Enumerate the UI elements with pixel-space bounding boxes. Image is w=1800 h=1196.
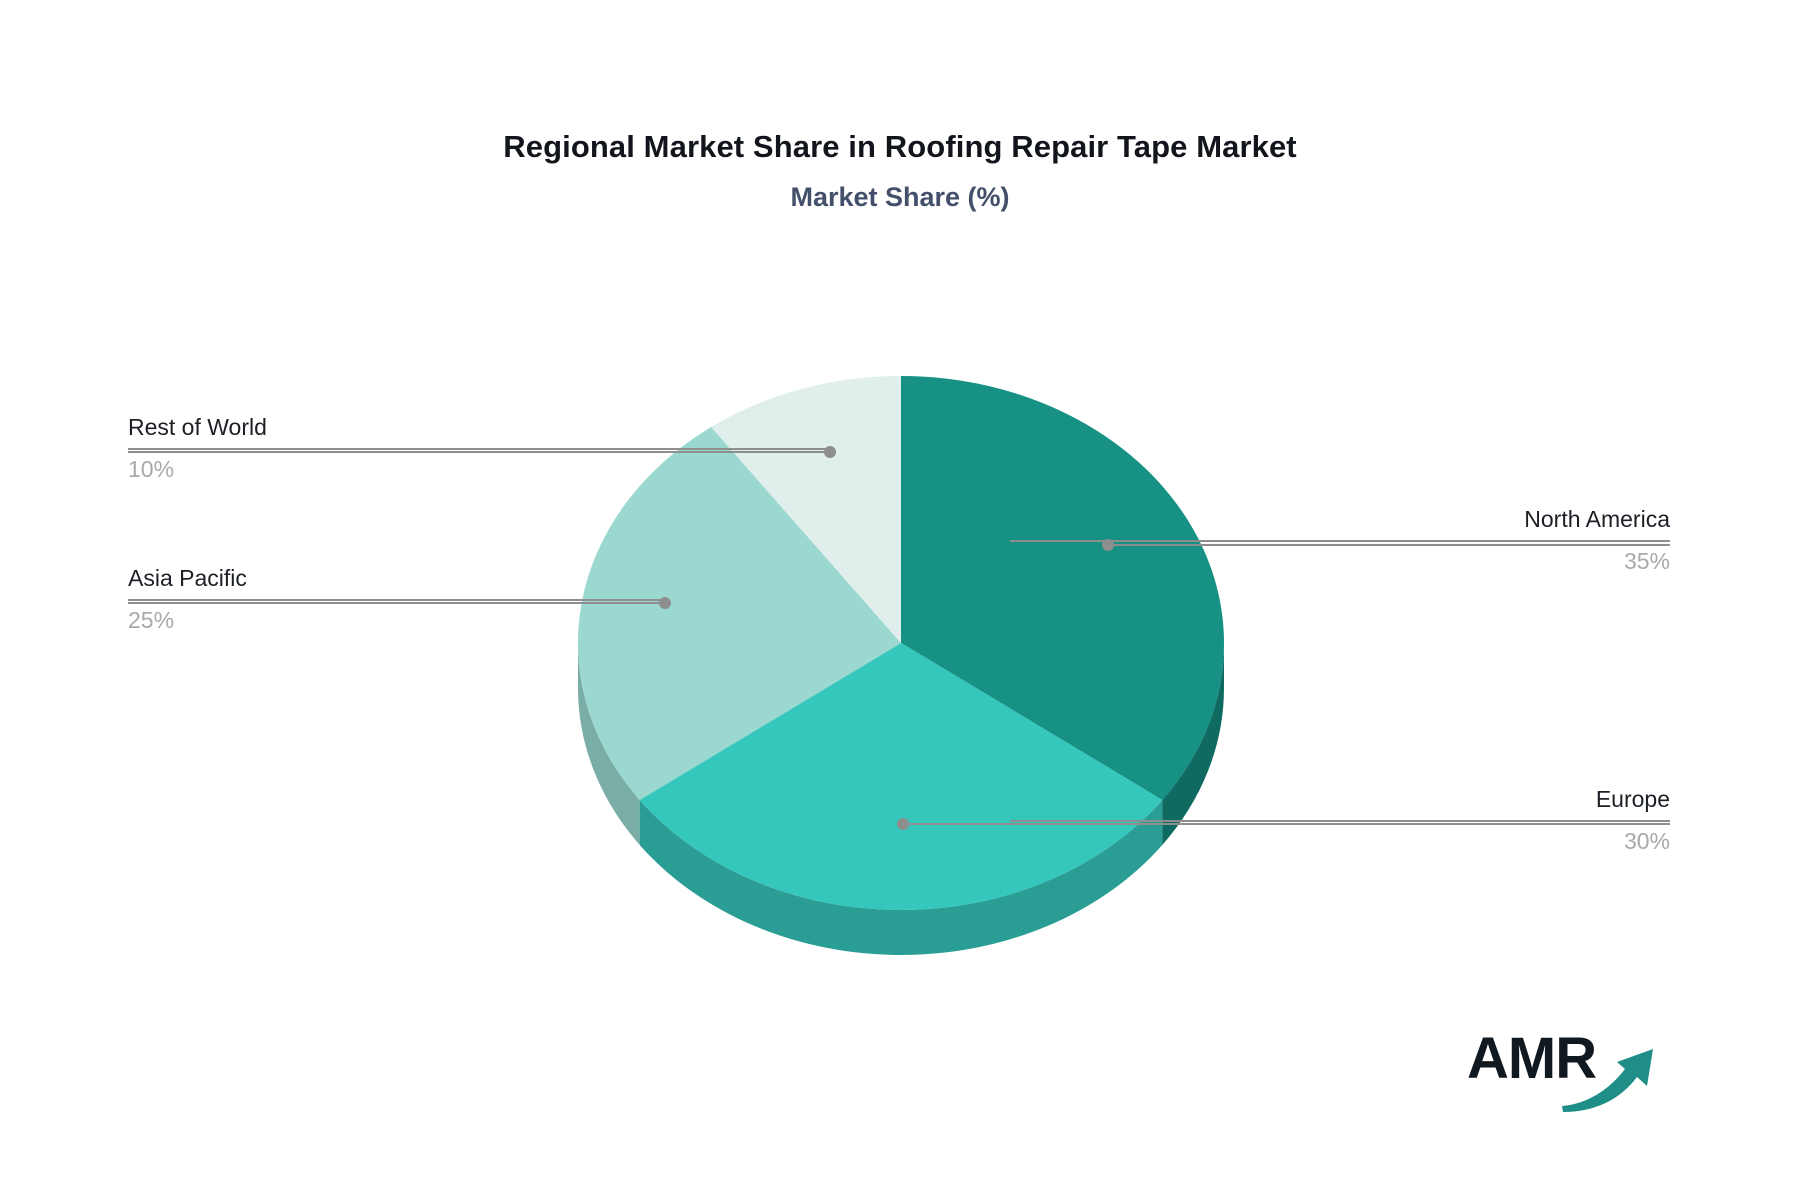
callout-north-america: North America 35% <box>1010 505 1670 576</box>
callout-value-rest-of-world: 10% <box>128 455 828 484</box>
callout-value-north-america: 35% <box>1010 547 1670 576</box>
amr-logo-text: AMR <box>1467 1026 1596 1091</box>
callout-rule-rest-of-world <box>128 448 828 450</box>
callout-rest-of-world: Rest of World 10% <box>128 413 828 484</box>
callout-label-asia-pacific: Asia Pacific <box>128 564 668 593</box>
amr-logo: AMR <box>1467 1022 1667 1112</box>
callout-rule-europe <box>1010 820 1670 822</box>
callout-rule-north-america <box>1010 540 1670 542</box>
callout-label-rest-of-world: Rest of World <box>128 413 828 442</box>
leader-dot-europe <box>897 818 909 830</box>
callout-label-north-america: North America <box>1010 505 1670 534</box>
callout-value-asia-pacific: 25% <box>128 606 668 635</box>
callout-europe: Europe 30% <box>1010 785 1670 856</box>
callout-asia-pacific: Asia Pacific 25% <box>128 564 668 635</box>
chart-canvas: Regional Market Share in Roofing Repair … <box>0 0 1800 1196</box>
callout-value-europe: 30% <box>1010 827 1670 856</box>
callout-rule-asia-pacific <box>128 599 668 601</box>
callout-label-europe: Europe <box>1010 785 1670 814</box>
